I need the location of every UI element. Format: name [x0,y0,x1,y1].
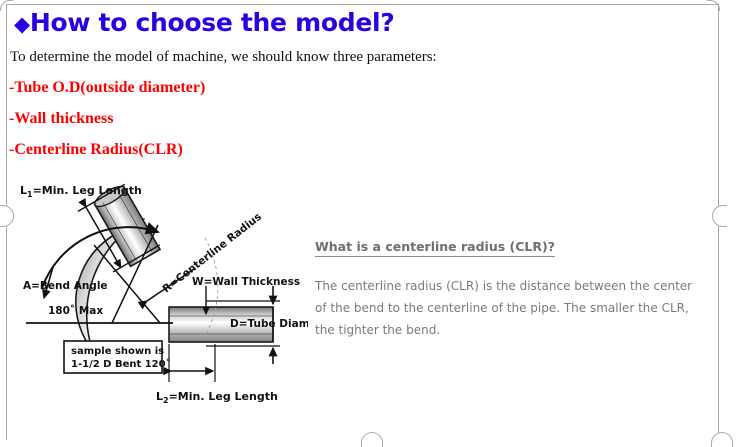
binding-notch-bottom-center [361,432,383,447]
tube-bend-diagram: L1=Min. Leg Length A=Bend Angle 180˚ Max… [8,168,308,418]
diamond-bullet-icon: ◆ [14,12,30,36]
lead-paragraph: To determine the model of machine, we sh… [10,49,437,66]
page-corner-top-right [707,0,720,11]
label-sample-line-1: sample shown is [71,346,164,357]
clr-heading: What is a centerline radius (CLR)? [315,239,555,257]
page-border-top [6,4,719,5]
parameter-item-wall-thickness: -Wall thickness [9,110,113,128]
page-corner-top-left [0,0,13,11]
label-leg-length-2: L2=Min. Leg Length [156,390,278,405]
label-leg-length-1: L1=Min. Leg Length [20,184,142,199]
label-bend-angle: A=Bend Angle [23,280,108,292]
page-title: ◆How to choose the model? [14,8,394,37]
page-title-text: How to choose the model? [30,8,395,37]
label-max-angle: 180˚ Max [48,305,103,317]
clr-description: The centerline radius (CLR) is the dista… [315,275,695,341]
parameter-item-tube-od: -Tube O.D(outside diameter) [9,79,205,97]
label-tube-diameter: D=Tube Diameter [230,318,308,330]
binding-notch-bottom-right [711,432,733,447]
label-sample-line-2: 1-1/2 D Bent 120˚ [71,358,171,370]
label-wall-thickness: W=Wall Thickness [192,276,300,288]
binding-notch-right [712,205,727,227]
slide-page: ◆How to choose the model? To determine t… [0,0,740,444]
parameter-item-clr: -Centerline Radius(CLR) [9,141,183,159]
